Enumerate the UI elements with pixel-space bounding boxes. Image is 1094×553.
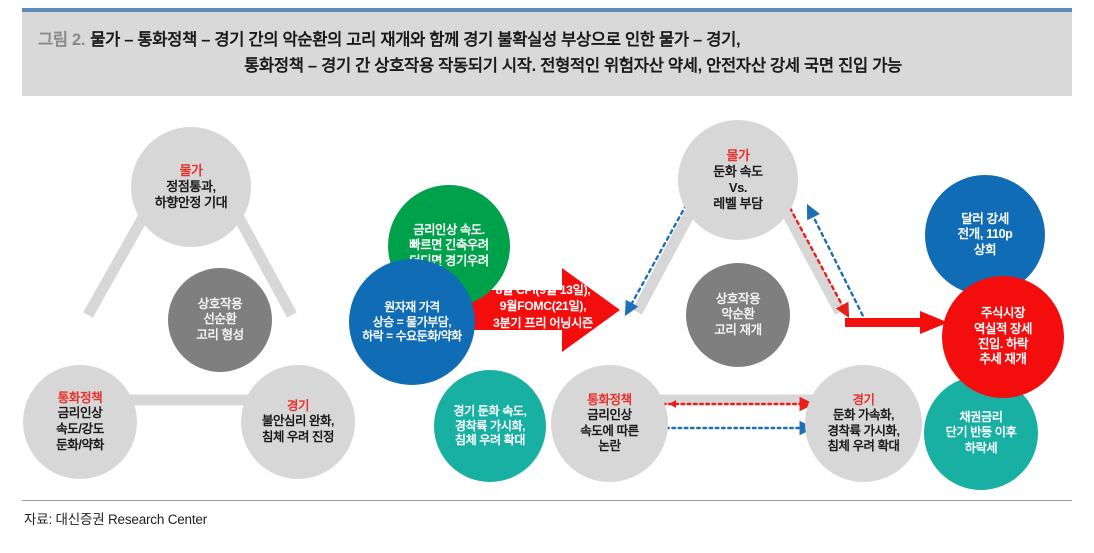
- node-equity-market[interactable]: 주식시장역실적 장세진입. 하락추세 재개: [942, 276, 1064, 398]
- node-equity-market-body: 주식시장역실적 장세진입. 하락추세 재개: [974, 306, 1032, 368]
- node-commodity-price-body: 원자재 가격상승 = 물가부담,하락 = 수요둔화/약화: [362, 300, 462, 344]
- figure-page: 그림 2.물가 – 통화정책 – 경기 간의 악순환의 고리 재개와 함께 경기…: [0, 0, 1094, 553]
- node-right-economy-body: 둔화 가속화,경착륙 가시화,침체 우려 확대: [827, 408, 899, 454]
- node-left-price[interactable]: 물가 정점통과,하향안정 기대: [131, 127, 251, 247]
- node-right-policy-title: 통화정책: [587, 393, 631, 409]
- node-left-economy[interactable]: 경기 불안심리 완화,침체 우려 진정: [241, 365, 355, 479]
- node-economy-slowdown[interactable]: 경기 둔화 속도,경착륙 가시화,침체 우려 확대: [434, 370, 546, 482]
- node-left-center-body: 상호작용선순환고리 형성: [196, 297, 243, 344]
- node-bond-yield-body: 채권금리단기 반등 이후하락세: [946, 410, 1017, 455]
- node-right-economy-title: 경기: [853, 393, 875, 408]
- header-line-2: 통화정책 – 경기 간 상호작용 작동되기 시작. 전형적인 위험자산 약세, …: [192, 54, 902, 80]
- node-left-policy-title: 통화정책: [58, 391, 103, 407]
- header-line-1-text: 물가 – 통화정책 – 경기 간의 악순환의 고리 재개와 함께 경기 불확실성…: [90, 31, 740, 49]
- footer-divider: [22, 500, 1072, 501]
- red-arrow-label: 8월 CPI(9월 13일),9월FOMC(21일),3분기 프리 어닝시즌: [468, 282, 618, 331]
- node-left-price-title: 물가: [179, 163, 202, 179]
- header-line-1: 그림 2.물가 – 통화정책 – 경기 간의 악순환의 고리 재개와 함께 경기…: [34, 28, 740, 54]
- node-left-policy[interactable]: 통화정책 금리인상속도/강도둔화/약화: [23, 365, 137, 479]
- node-right-policy[interactable]: 통화정책 금리인상속도에 따른논란: [551, 365, 668, 482]
- node-left-price-body: 정점통과,하향안정 기대: [155, 179, 228, 211]
- node-left-economy-body: 불안심리 완화,침체 우려 진정: [262, 414, 334, 445]
- node-right-economy[interactable]: 경기 둔화 가속화,경착륙 가시화,침체 우려 확대: [805, 365, 922, 482]
- node-economy-slowdown-body: 경기 둔화 속도,경착륙 가시화,침체 우려 확대: [453, 404, 526, 449]
- node-right-price-title: 물가: [726, 148, 749, 164]
- node-dollar-strength[interactable]: 달러 강세전개, 110p상회: [925, 175, 1045, 295]
- red-arrow-to-equity: [845, 311, 948, 334]
- figure-number: 그림 2.: [38, 31, 85, 49]
- arrow-price-to-economy: [790, 208, 848, 316]
- arrow-price-to-policy: [626, 198, 690, 314]
- node-left-policy-body: 금리인상속도/강도둔화/약화: [56, 406, 104, 453]
- node-right-price-body: 둔화 속도Vs.레벨 부담: [713, 164, 762, 212]
- node-right-price[interactable]: 물가 둔화 속도Vs.레벨 부담: [678, 120, 798, 240]
- node-dollar-strength-body: 달러 강세전개, 110p상회: [958, 212, 1013, 259]
- node-right-center-body: 상호작용악순환고리 재개: [714, 292, 761, 339]
- diagram-canvas: 물가 정점통과,하향안정 기대 상호작용선순환고리 형성 통화정책 금리인상속도…: [0, 100, 1094, 490]
- node-right-policy-body: 금리인상속도에 따른논란: [580, 408, 639, 455]
- header-title-block: 그림 2.물가 – 통화정책 – 경기 간의 악순환의 고리 재개와 함께 경기…: [22, 12, 1072, 96]
- node-left-center[interactable]: 상호작용선순환고리 형성: [168, 268, 272, 372]
- source-note: 자료: 대신증권 Research Center: [24, 508, 207, 528]
- node-left-economy-title: 경기: [287, 399, 309, 414]
- node-commodity-price[interactable]: 원자재 가격상승 = 물가부담,하락 = 수요둔화/약화: [349, 259, 475, 385]
- node-right-center[interactable]: 상호작용악순환고리 재개: [686, 263, 790, 367]
